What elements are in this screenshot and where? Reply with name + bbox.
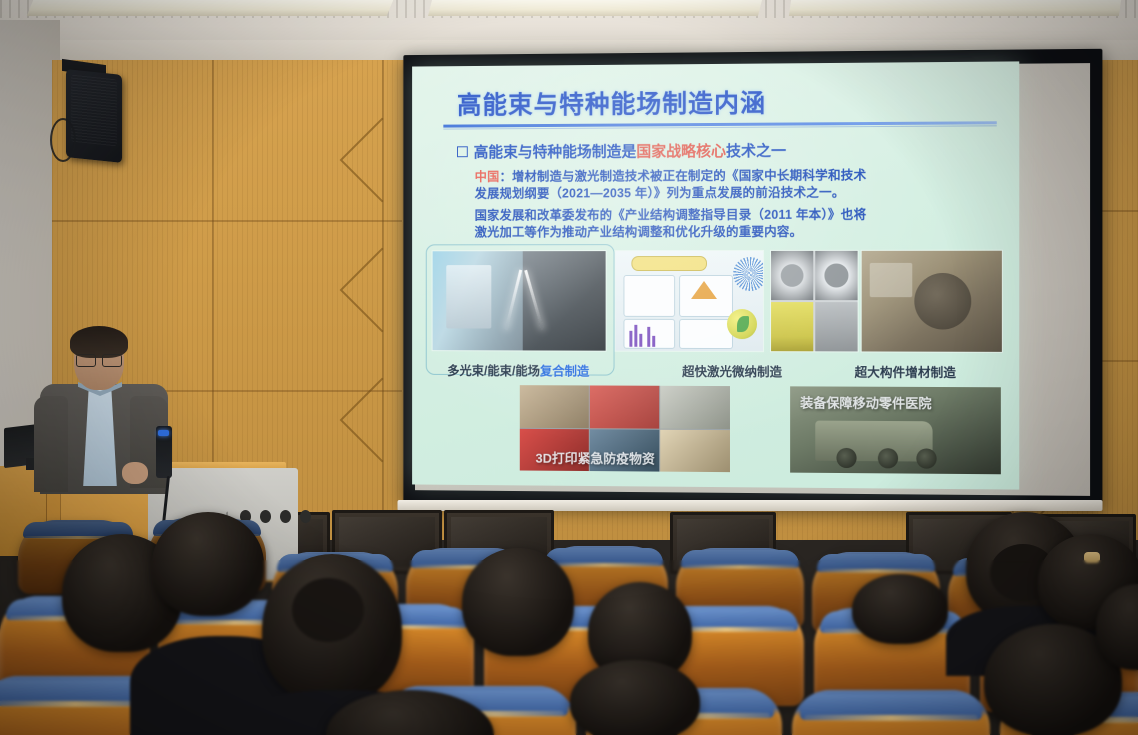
paragraph-text: 增材制造与激光制造技术被正在制定的《国家中长期科学和技术 bbox=[512, 168, 866, 183]
speaker-mesh bbox=[71, 75, 117, 147]
eyeglasses-icon bbox=[76, 354, 122, 365]
paragraph-line-2: 发展规划纲要（2021—2035 年）》列为重点发展的前沿技术之一。 bbox=[475, 185, 845, 203]
paragraph-line-1: 中国：增材制造与激光制造技术被正在制定的《国家中长期科学和技术 bbox=[475, 167, 867, 186]
slide-bullet: 高能束与特种能场制造是国家战略核心技术之一 bbox=[457, 140, 786, 163]
ceiling-light bbox=[27, 0, 393, 16]
presenter-left-arm bbox=[34, 396, 68, 492]
hair-clip bbox=[1084, 552, 1100, 563]
caption-plain: 多光束/能束/能场 bbox=[447, 364, 540, 378]
presenter-hand bbox=[122, 462, 148, 484]
bullet-suffix: 技术之一 bbox=[726, 143, 786, 160]
photo-large-component-am bbox=[861, 250, 1003, 353]
photo-3d-printed-supplies: 3D打印紧急防疫物资 bbox=[520, 385, 730, 472]
microphone-led-indicator bbox=[158, 430, 169, 436]
caption-mobile-parts-hospital: 装备保障移动零件医院 bbox=[800, 392, 931, 412]
audience-member-head bbox=[852, 574, 948, 644]
caption-accent: 复合制造 bbox=[540, 364, 589, 378]
paragraph-line-3: 国家发展和改革委发布的《产业结构调整指导目录（2011 年本）》也将 bbox=[475, 207, 867, 225]
bullet-square-icon bbox=[457, 146, 468, 157]
slide-title: 高能束与特种能场制造内涵 bbox=[457, 84, 766, 122]
photo-mobile-parts-hospital: 装备保障移动零件医院 bbox=[790, 386, 1001, 474]
speaker-cable bbox=[50, 118, 76, 162]
caption-ultrafast: 超快激光微纳制造 bbox=[682, 361, 782, 380]
audience-member-head bbox=[570, 660, 700, 735]
audience-member-head bbox=[152, 512, 264, 616]
lecture-hall-photo: 高能束与特种能场制造内涵 高能束与特种能场制造是国家战略核心技术之一 中国：增材… bbox=[0, 0, 1138, 735]
caption-3d-printed-supplies: 3D打印紧急防疫物资 bbox=[536, 448, 655, 468]
projected-slide: 高能束与特种能场制造内涵 高能束与特种能场制造是国家战略核心技术之一 中国：增材… bbox=[412, 61, 1019, 489]
slide-photo-row-top bbox=[412, 250, 1019, 363]
caption-large-component: 超大构件增材制造 bbox=[855, 361, 956, 381]
ceiling-light bbox=[428, 0, 762, 16]
photo-ultrafast-laser-diagram bbox=[615, 250, 764, 352]
bullet-prefix: 高能束与特种能场制造是 bbox=[474, 143, 637, 161]
ceiling-light bbox=[789, 0, 1121, 16]
bullet-highlight: 国家战略核心 bbox=[636, 143, 726, 160]
paragraph-sep: ： bbox=[500, 170, 512, 184]
caption-multibeam: 多光束/能束/能场复合制造 bbox=[447, 360, 589, 379]
photo-micro-nano-samples bbox=[770, 250, 859, 353]
photo-multibeam-manufacturing bbox=[432, 250, 607, 352]
paragraph-line-4: 激光加工等作为推动产业结构调整和优化升级的重要内容。 bbox=[475, 224, 803, 242]
paragraph-label: 中国 bbox=[475, 170, 500, 184]
presenter bbox=[34, 330, 174, 490]
audience-member-head bbox=[462, 548, 574, 656]
auditorium-seat bbox=[792, 690, 990, 735]
audience-hair-bun bbox=[292, 578, 364, 642]
